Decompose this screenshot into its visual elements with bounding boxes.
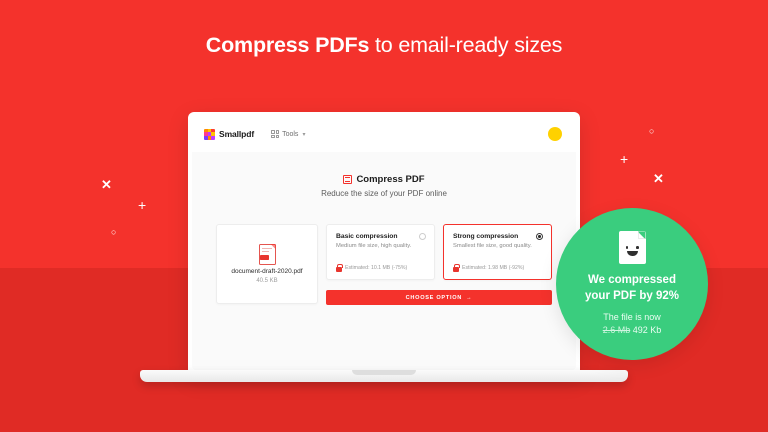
radio-strong[interactable] [536, 233, 543, 240]
app-topbar: Smallpdf Tools ▾ [192, 116, 576, 153]
options-column: Basic compression Medium file size, high… [326, 224, 552, 305]
option-description: Smallest file size, good quality. [453, 243, 542, 249]
option-estimate: Estimated: 10.1 MB (-75%) [345, 265, 407, 271]
badge-title-line2: your PDF by 92% [585, 289, 679, 305]
file-size: 40.5 KB [256, 278, 277, 284]
choose-option-label: CHOOSE OPTION [406, 295, 462, 301]
option-basic-compression[interactable]: Basic compression Medium file size, high… [326, 224, 435, 280]
badge-sizes: 2.6 Mb 492 Kb [603, 324, 662, 337]
compress-icon [343, 175, 352, 184]
brand-name: Smallpdf [219, 129, 254, 139]
new-file-size: 492 Kb [633, 325, 662, 335]
old-file-size: 2.6 Mb [603, 325, 631, 335]
app-canvas: Compress PDF Reduce the size of your PDF… [192, 152, 576, 370]
brand[interactable]: Smallpdf [204, 129, 254, 140]
chevron-down-icon: ▾ [302, 131, 305, 138]
tool-subtitle: Reduce the size of your PDF online [192, 189, 576, 198]
smallpdf-logo-icon [204, 129, 215, 140]
lock-icon [453, 264, 459, 272]
option-strong-compression[interactable]: Strong compression Smallest file size, g… [443, 224, 552, 280]
sparkle-x-icon: ✕ [101, 178, 112, 191]
option-description: Medium file size, high quality. [336, 243, 425, 249]
option-estimate-row: Estimated: 10.1 MB (-75%) [336, 264, 407, 272]
page-title-rest: to email-ready sizes [369, 33, 562, 57]
page-title-bold: Compress PDFs [206, 33, 369, 57]
sparkle-circle-icon: ○ [111, 228, 116, 237]
compression-result-badge: We compressed your PDF by 92% The file i… [556, 208, 708, 360]
tools-label: Tools [282, 131, 298, 138]
radio-basic[interactable] [419, 233, 426, 240]
tool-title: Compress PDF [356, 174, 424, 185]
arrow-right-icon: → [466, 295, 472, 301]
smallpdf-app: Smallpdf Tools ▾ Compress PDF Reduce the… [192, 116, 576, 370]
smiling-document-icon [619, 231, 646, 264]
options-row: Basic compression Medium file size, high… [326, 224, 552, 280]
file-name: document-draft-2020.pdf [231, 268, 302, 275]
lock-icon [336, 264, 342, 272]
badge-title-line1: We compressed [585, 273, 679, 289]
badge-title: We compressed your PDF by 92% [585, 273, 679, 304]
avatar[interactable] [548, 127, 562, 141]
compress-panel: document-draft-2020.pdf 40.5 KB Basic co… [216, 224, 552, 305]
file-card[interactable]: document-draft-2020.pdf 40.5 KB [216, 224, 318, 304]
poster-canvas: Compress PDFs to email-ready sizes ✕ + ○… [0, 0, 768, 432]
badge-subtitle: The file is now 2.6 Mb 492 Kb [603, 311, 662, 336]
choose-option-button[interactable]: CHOOSE OPTION → [326, 290, 552, 305]
panel-row: document-draft-2020.pdf 40.5 KB Basic co… [216, 224, 552, 305]
pdf-file-icon [259, 244, 276, 265]
tool-header: Compress PDF Reduce the size of your PDF… [192, 174, 576, 198]
option-estimate-row: Estimated: 1.98 MB (-92%) [453, 264, 524, 272]
sparkle-circle-icon: ○ [649, 127, 654, 136]
laptop-mockup: Smallpdf Tools ▾ Compress PDF Reduce the… [140, 112, 628, 384]
option-title: Basic compression [336, 233, 425, 240]
option-estimate: Estimated: 1.98 MB (-92%) [462, 265, 524, 271]
tools-menu[interactable]: Tools ▾ [271, 130, 305, 138]
laptop-notch [352, 370, 416, 375]
page-title: Compress PDFs to email-ready sizes [0, 33, 768, 58]
grid-icon [271, 130, 279, 138]
sparkle-x-icon: ✕ [653, 172, 664, 185]
option-title: Strong compression [453, 233, 542, 240]
badge-sub-line1: The file is now [603, 311, 662, 324]
tool-title-row: Compress PDF [192, 174, 576, 185]
